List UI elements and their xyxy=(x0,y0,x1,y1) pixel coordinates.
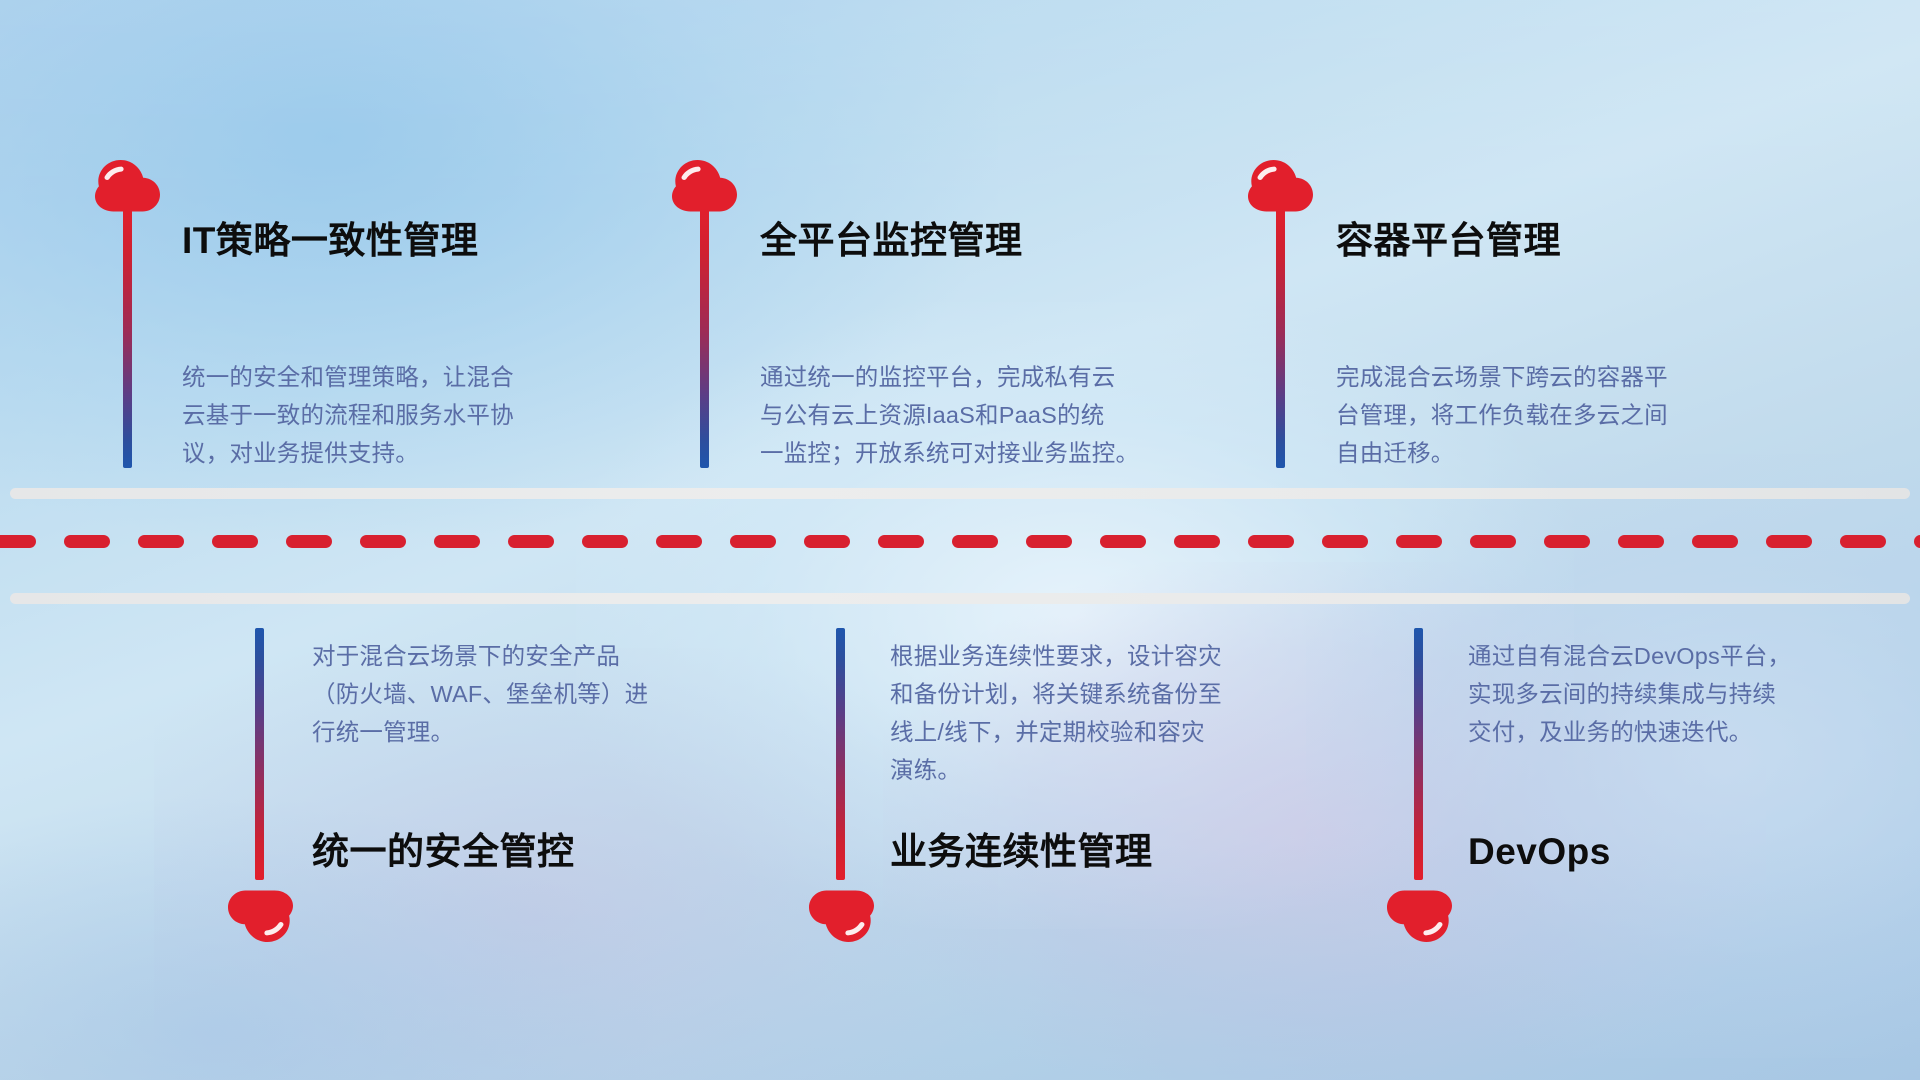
card-body: 通过统一的监控平台，完成私有云 与公有云上资源IaaS和PaaS的统 一监控；开… xyxy=(760,358,1200,472)
section-divider xyxy=(0,488,1920,608)
divider-dash xyxy=(1174,535,1220,548)
card-body: 对于混合云场景下的安全产品 （防火墙、WAF、堡垒机等）进 行统一管理。 xyxy=(312,637,732,751)
card-title: 业务连续性管理 xyxy=(890,833,1153,870)
card-title: 统一的安全管控 xyxy=(312,833,575,870)
divider-dash xyxy=(286,535,332,548)
divider-dash xyxy=(508,535,554,548)
card-body: 完成混合云场景下跨云的容器平 台管理，将工作负载在多云之间 自由迁移。 xyxy=(1336,358,1786,472)
divider-rule-bottom xyxy=(10,593,1910,604)
divider-dash xyxy=(730,535,776,548)
divider-dash xyxy=(64,535,110,548)
cloud-icon xyxy=(95,160,161,212)
connector-bar xyxy=(836,628,845,880)
divider-dash xyxy=(1100,535,1146,548)
connector-bar xyxy=(255,628,264,880)
cloud-icon xyxy=(808,890,874,942)
divider-dash xyxy=(1470,535,1516,548)
divider-dash xyxy=(138,535,184,548)
card-body: 通过自有混合云DevOps平台， 实现多云间的持续集成与持续 交付，及业务的快速… xyxy=(1468,637,1908,751)
card-title: IT策略一致性管理 xyxy=(182,222,478,259)
divider-dash xyxy=(656,535,702,548)
divider-dash xyxy=(582,535,628,548)
divider-dash xyxy=(1322,535,1368,548)
divider-dash xyxy=(1840,535,1886,548)
divider-dash xyxy=(212,535,258,548)
divider-rule-top xyxy=(10,488,1910,499)
divider-dash xyxy=(1618,535,1664,548)
card-title: DevOps xyxy=(1468,833,1611,870)
cloud-icon xyxy=(1386,890,1452,942)
divider-dash xyxy=(1544,535,1590,548)
connector-bar xyxy=(1276,208,1285,468)
card-body: 统一的安全和管理策略，让混合 云基于一致的流程和服务水平协 议，对业务提供支持。 xyxy=(182,358,612,472)
divider-dash xyxy=(804,535,850,548)
card-title: 容器平台管理 xyxy=(1336,222,1561,259)
divider-dash xyxy=(952,535,998,548)
card-title: 全平台监控管理 xyxy=(760,222,1023,259)
divider-dash xyxy=(0,535,36,548)
divider-dash xyxy=(1396,535,1442,548)
divider-dash xyxy=(434,535,480,548)
infographic-canvas: IT策略一致性管理 统一的安全和管理策略，让混合 云基于一致的流程和服务水平协 … xyxy=(0,0,1920,1080)
divider-dash xyxy=(1248,535,1294,548)
cloud-icon xyxy=(227,890,293,942)
divider-dash xyxy=(1026,535,1072,548)
connector-bar xyxy=(123,208,132,468)
card-body: 根据业务连续性要求，设计容灾 和备份计划，将关键系统备份至 线上/线下，并定期校… xyxy=(890,637,1320,789)
divider-dash xyxy=(360,535,406,548)
cloud-icon xyxy=(672,160,738,212)
divider-dash xyxy=(1692,535,1738,548)
divider-dash xyxy=(1766,535,1812,548)
divider-dash xyxy=(1914,535,1920,548)
divider-dashed-line xyxy=(0,535,1920,548)
connector-bar xyxy=(1414,628,1423,880)
cloud-icon xyxy=(1248,160,1314,212)
connector-bar xyxy=(700,208,709,468)
divider-dash xyxy=(878,535,924,548)
